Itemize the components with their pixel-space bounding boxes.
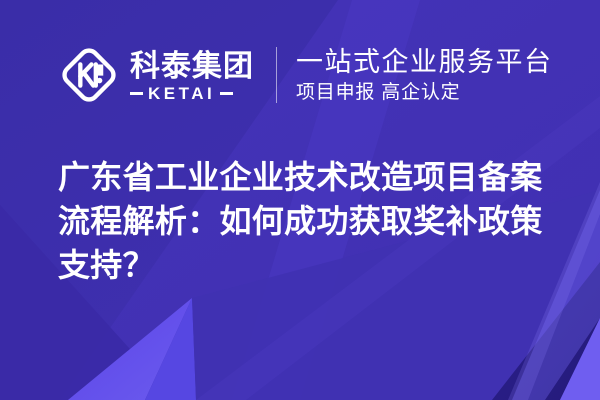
tagline-secondary: 项目申报 高企认定 (296, 81, 553, 105)
wordmark-rule-left (130, 92, 143, 95)
header-divider (276, 47, 277, 103)
ketai-diamond-monogram-icon (58, 44, 120, 106)
tagline-primary: 一站式企业服务平台 (296, 46, 553, 78)
page-title: 广东省工业企业技术改造项目备案流程解析：如何成功获取奖补政策支持？ (58, 155, 550, 287)
promo-banner: 科泰集团 KETAI 一站式企业服务平台 项目申报 高企认定 广东省工业企业技术… (0, 0, 600, 400)
banner-header: 科泰集团 KETAI 一站式企业服务平台 项目申报 高企认定 (58, 38, 553, 112)
brand-name-cn: 科泰集团 (130, 51, 254, 83)
brand-wordmark: 科泰集团 KETAI (130, 43, 254, 107)
wordmark-rule-right (220, 92, 233, 95)
brand-logo[interactable]: 科泰集团 KETAI (58, 38, 254, 112)
tagline-block: 一站式企业服务平台 项目申报 高企认定 (296, 44, 553, 106)
brand-name-en: KETAI (148, 85, 215, 102)
brand-name-en-row: KETAI (130, 86, 254, 102)
